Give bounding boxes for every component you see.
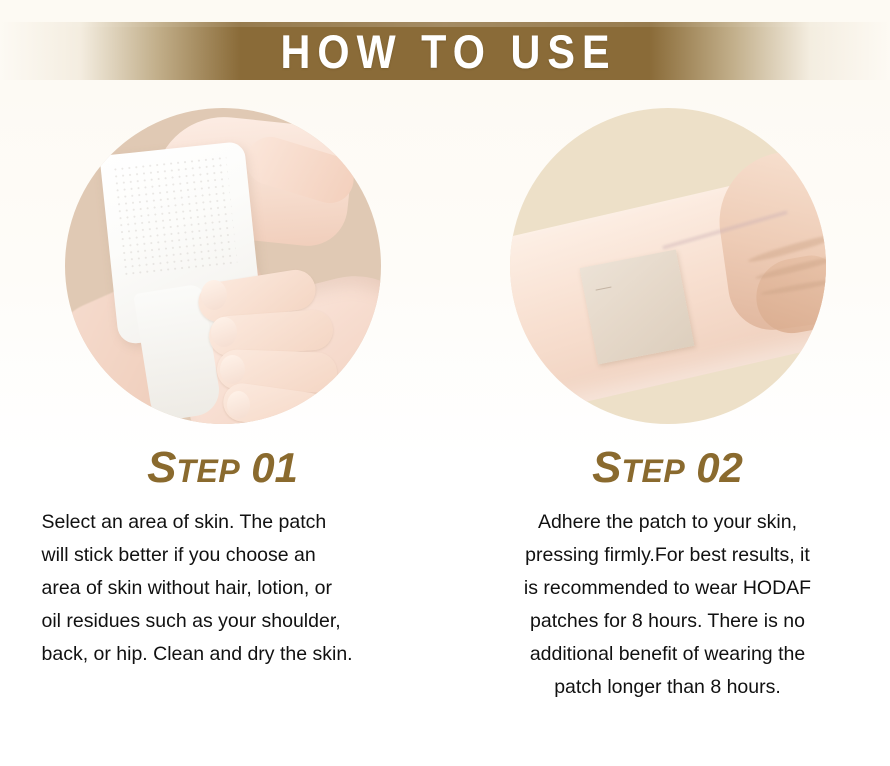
patch-applied-to-arm-photo <box>510 108 826 424</box>
page-title: HOW TO USE <box>273 28 616 75</box>
step-label-02: S TEP 02 <box>592 446 743 490</box>
body-line: pressing firmly.For best results, it <box>469 539 867 572</box>
body-line: oil residues such as your shoulder, <box>42 605 412 638</box>
body-line: area of skin without hair, lotion, or <box>42 572 412 605</box>
step-column-01: S TEP 01 Select an area of skin. The pat… <box>0 108 445 704</box>
body-line: patches for 8 hours. There is no <box>469 605 867 638</box>
step-label-s: S <box>147 446 176 490</box>
step-body-02: Adhere the patch to your skin, pressing … <box>469 506 867 704</box>
fingernail-shape <box>211 317 237 347</box>
body-line: is recommended to wear HODAF <box>469 572 867 605</box>
step-label-number: 01 <box>251 447 298 489</box>
step-label-s: S <box>592 446 621 490</box>
cleaning-skin-with-wipe-photo <box>65 108 381 424</box>
step-body-01: Select an area of skin. The patch will s… <box>34 506 412 671</box>
how-to-use-header-band: HOW TO USE <box>0 22 890 80</box>
step-column-02: S TEP 02 Adhere the patch to your skin, … <box>445 108 890 704</box>
body-line: patch longer than 8 hours. <box>469 671 867 704</box>
step-label-tep: TEP <box>176 455 240 487</box>
adhesive-patch-shape <box>579 250 694 365</box>
fingernail-shape <box>201 280 227 310</box>
step-label-tep: TEP <box>621 455 685 487</box>
step-label-01: S TEP 01 <box>147 446 298 490</box>
body-line: additional benefit of wearing the <box>469 638 867 671</box>
fingernail-shape <box>227 391 250 419</box>
wipe-texture-overlay <box>111 154 237 275</box>
fingernail-shape <box>220 355 245 384</box>
body-line: back, or hip. Clean and dry the skin. <box>42 638 412 671</box>
body-line: Adhere the patch to your skin, <box>469 506 867 539</box>
steps-container: S TEP 01 Select an area of skin. The pat… <box>0 108 890 704</box>
body-line: will stick better if you choose an <box>42 539 412 572</box>
step-label-number: 02 <box>696 447 743 489</box>
body-line: Select an area of skin. The patch <box>42 506 412 539</box>
